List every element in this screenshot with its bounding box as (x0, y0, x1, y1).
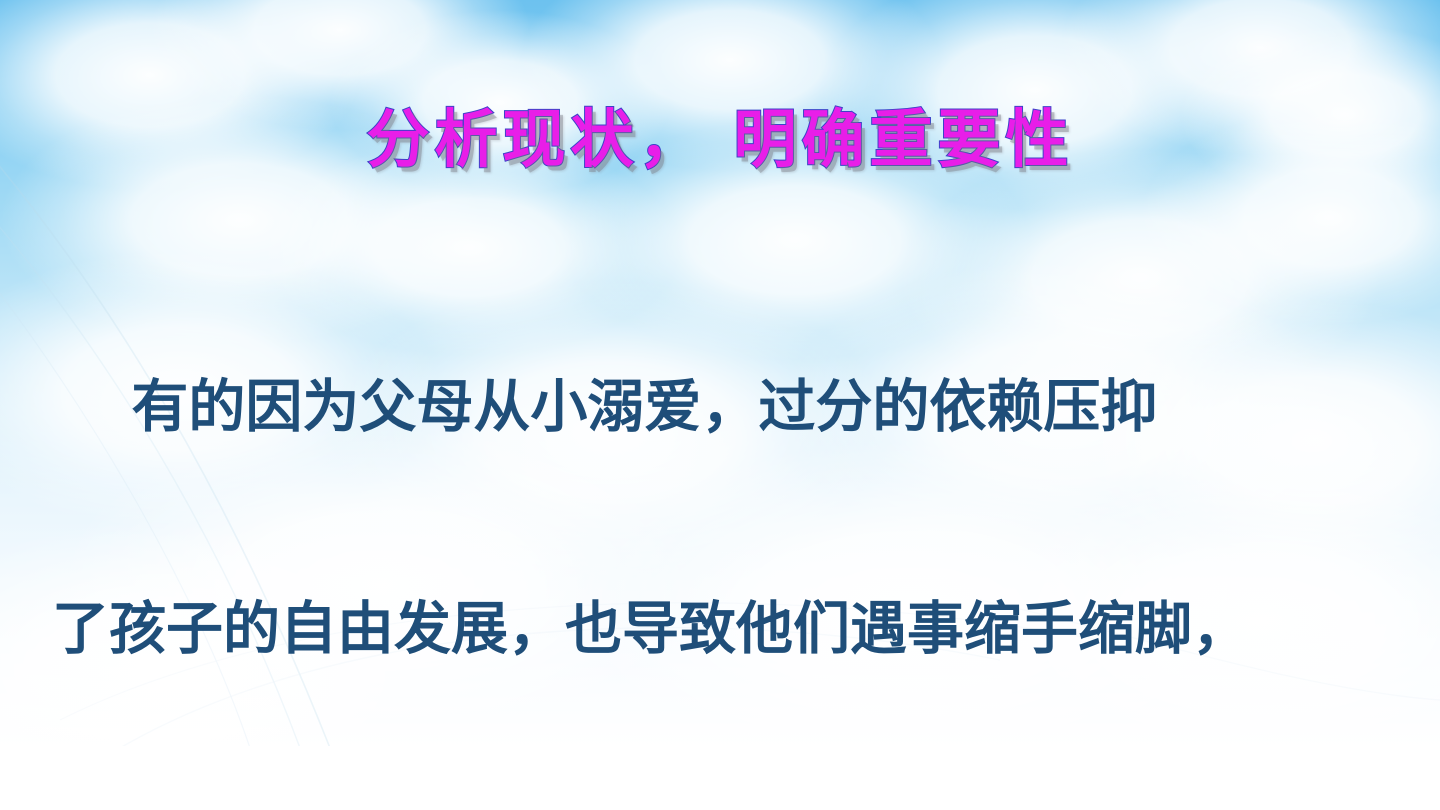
body-line: 了孩子的自由发展，也导致他们遇事缩手缩脚， (52, 592, 1392, 666)
body-line: 有的因为父母从小溺爱，过分的依赖压抑 (52, 370, 1392, 444)
presentation-slide: 分析现状， 明确重要性 有的因为父母从小溺爱，过分的依赖压抑 了孩子的自由发展，… (0, 0, 1440, 810)
bottom-white-band (0, 746, 1440, 810)
body-paragraph: 有的因为父母从小溺爱，过分的依赖压抑 了孩子的自由发展，也导致他们遇事缩手缩脚，… (52, 222, 1392, 810)
slide-body: 有的因为父母从小溺爱，过分的依赖压抑 了孩子的自由发展，也导致他们遇事缩手缩脚，… (52, 222, 1392, 810)
slide-title: 分析现状， 明确重要性 (0, 105, 1440, 174)
